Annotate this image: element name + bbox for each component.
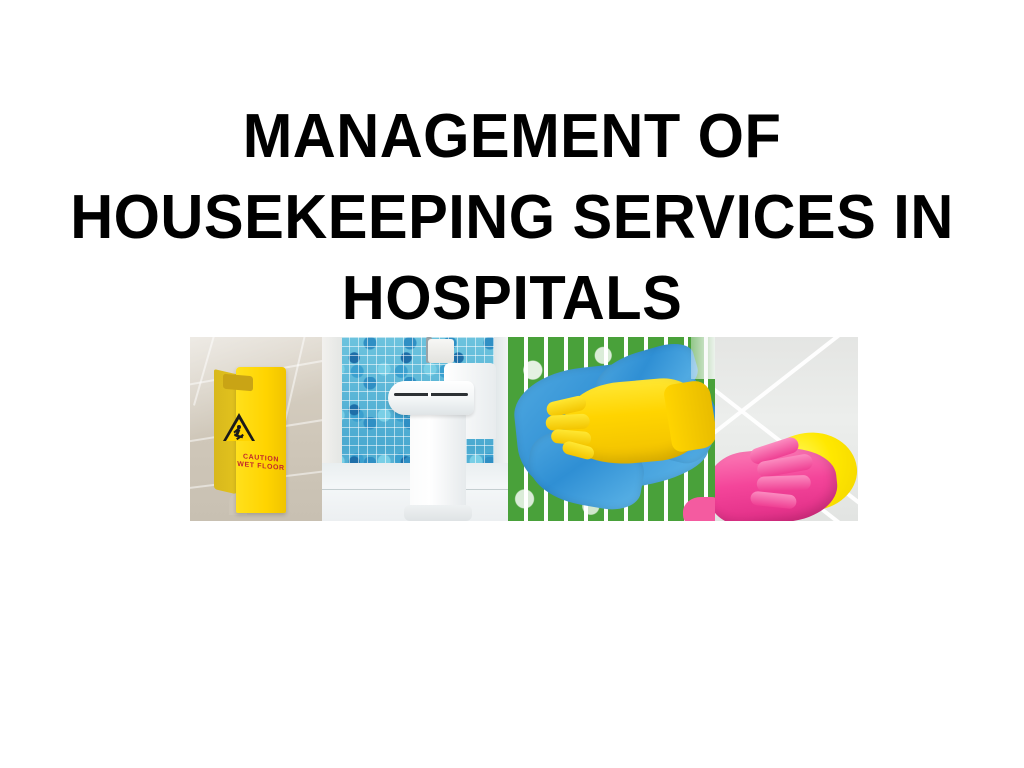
toilet-base	[404, 505, 472, 521]
glove-finger	[750, 491, 797, 510]
sign-handle-cutout	[223, 374, 253, 392]
image-panel-caution-wet-floor-sign: CAUTION WET FLOOR	[190, 337, 322, 521]
image-panel-sponge-white-tile	[715, 337, 858, 521]
toilet-lid	[388, 381, 474, 415]
pink-glove-edge	[683, 497, 715, 521]
presentation-slide: MANAGEMENT OF HOUSEKEEPING SERVICES IN H…	[0, 0, 1024, 768]
glove-cuff	[663, 379, 715, 453]
slipping-person-icon	[232, 425, 246, 441]
wall-edge-highlight	[691, 337, 715, 379]
title-line-1: MANAGEMENT OF	[20, 96, 1003, 177]
toilet-lid-seam	[394, 393, 468, 396]
housekeeping-image-strip: CAUTION WET FLOOR	[190, 337, 858, 521]
slide-title: MANAGEMENT OF HOUSEKEEPING SERVICES IN H…	[0, 96, 1024, 339]
title-line-2: HOUSEKEEPING SERVICES IN	[20, 177, 1003, 258]
image-panel-toilet-bathroom	[322, 337, 508, 521]
title-line-3: HOSPITALS	[20, 258, 1003, 339]
toilet-icon	[388, 359, 496, 521]
image-panel-glove-cloth-green-tile	[508, 337, 715, 521]
glove-finger	[545, 414, 590, 431]
toilet-lid-gap	[428, 392, 431, 397]
caution-sign-icon: CAUTION WET FLOOR	[214, 363, 292, 513]
glove-finger	[757, 475, 811, 492]
